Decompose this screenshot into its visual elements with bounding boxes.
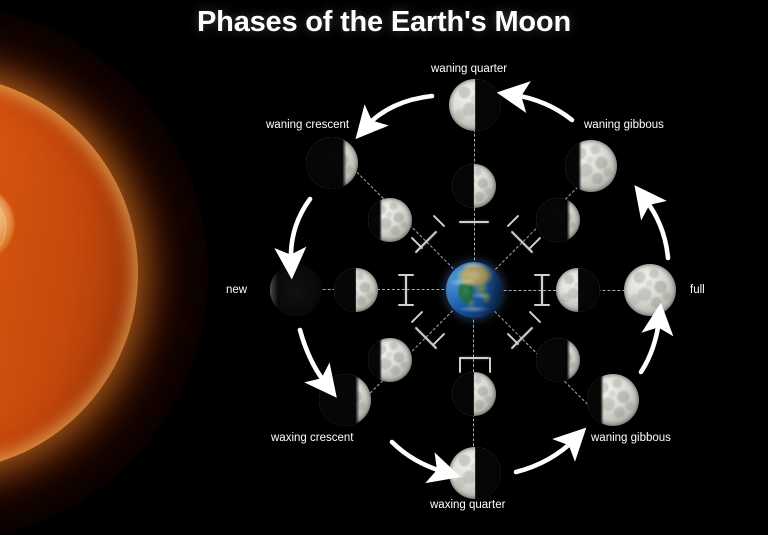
outer-moon-waning-quarter (449, 79, 501, 131)
arrow-left-to-lower-left (300, 330, 326, 384)
moon-rim (449, 79, 501, 131)
orbit-diagram: waning quarter waning crescent waning gi… (0, 0, 768, 535)
arrow-lower-left-to-bottom (392, 442, 444, 472)
tick-bar-90 (459, 357, 489, 359)
earth-terminator (446, 262, 502, 318)
moon-rim (452, 164, 496, 208)
inner-moon-waning-crescent (368, 198, 412, 242)
outer-moon-waxing-quarter (449, 447, 501, 499)
moon-edge-light (270, 264, 322, 316)
inner-moon-new (452, 164, 496, 208)
moon-rim (334, 268, 378, 312)
moon-rim (624, 264, 676, 316)
tick-cap-225-a (411, 237, 424, 250)
label-waning-gibbous-top: waning gibbous (584, 119, 664, 131)
tick-cap-45-b (529, 311, 542, 324)
inner-moon-gibbous-bottom (536, 338, 580, 382)
moon-rim (368, 338, 412, 382)
moon-rim (536, 198, 580, 242)
earth (446, 262, 502, 318)
arrow-upper-left-to-left (291, 199, 310, 262)
label-waning-gibbous-bottom: waning gibbous (591, 432, 671, 444)
tick-bar-270 (459, 221, 489, 223)
moon-rim (319, 374, 371, 426)
tick-cap-0-a (534, 274, 550, 276)
label-waxing-crescent: waxing crescent (271, 432, 353, 444)
arrow-top-to-upper-left (367, 96, 432, 126)
label-new: new (226, 284, 247, 296)
moon-rim (587, 374, 639, 426)
outer-moon-waning-gibbous-top (565, 140, 617, 192)
inner-moon-full (556, 268, 600, 312)
outer-moon-waxing-crescent (319, 374, 371, 426)
outer-moon-new (270, 264, 322, 316)
label-waning-quarter: waning quarter (431, 63, 507, 75)
outer-moon-full (624, 264, 676, 316)
arrow-lower-right-to-right (641, 320, 659, 372)
moon-rim (556, 268, 600, 312)
label-waxing-quarter: waxing quarter (430, 499, 505, 511)
tick-cap-0-b (534, 304, 550, 306)
tick-bar-180 (405, 275, 407, 305)
tick-cap-315-a (507, 215, 520, 228)
moon-rim (368, 198, 412, 242)
moon-phases-diagram: Phases of the Earth's Moon (0, 0, 768, 535)
moon-rim (449, 447, 501, 499)
tick-cap-135-b (433, 333, 446, 346)
tick-cap-315-b (529, 237, 542, 250)
tick-cap-90-a (459, 357, 461, 373)
inner-moon-waxing-crescent (368, 338, 412, 382)
tick-bar-0 (541, 275, 543, 305)
tick-cap-180-b (398, 304, 414, 306)
tick-cap-135-a (411, 311, 424, 324)
tick-cap-90-b (489, 357, 491, 373)
arrow-upper-right-to-top (514, 95, 572, 120)
moon-rim (452, 372, 496, 416)
inner-moon-left (334, 268, 378, 312)
arrow-right-to-upper-right (645, 199, 668, 258)
tick-cap-225-b (433, 215, 446, 228)
outer-moon-waning-gibbous-bottom (587, 374, 639, 426)
inner-moon-gibbous-top (536, 198, 580, 242)
label-waning-crescent: waning crescent (266, 119, 349, 131)
label-full: full (690, 284, 705, 296)
moon-rim (536, 338, 580, 382)
inner-moon-waxing-quarter (452, 372, 496, 416)
arrow-bottom-to-lower-right (516, 440, 574, 472)
moon-rim (565, 140, 617, 192)
tick-cap-180-a (398, 274, 414, 276)
outer-moon-waning-crescent (306, 137, 358, 189)
moon-rim (306, 137, 358, 189)
